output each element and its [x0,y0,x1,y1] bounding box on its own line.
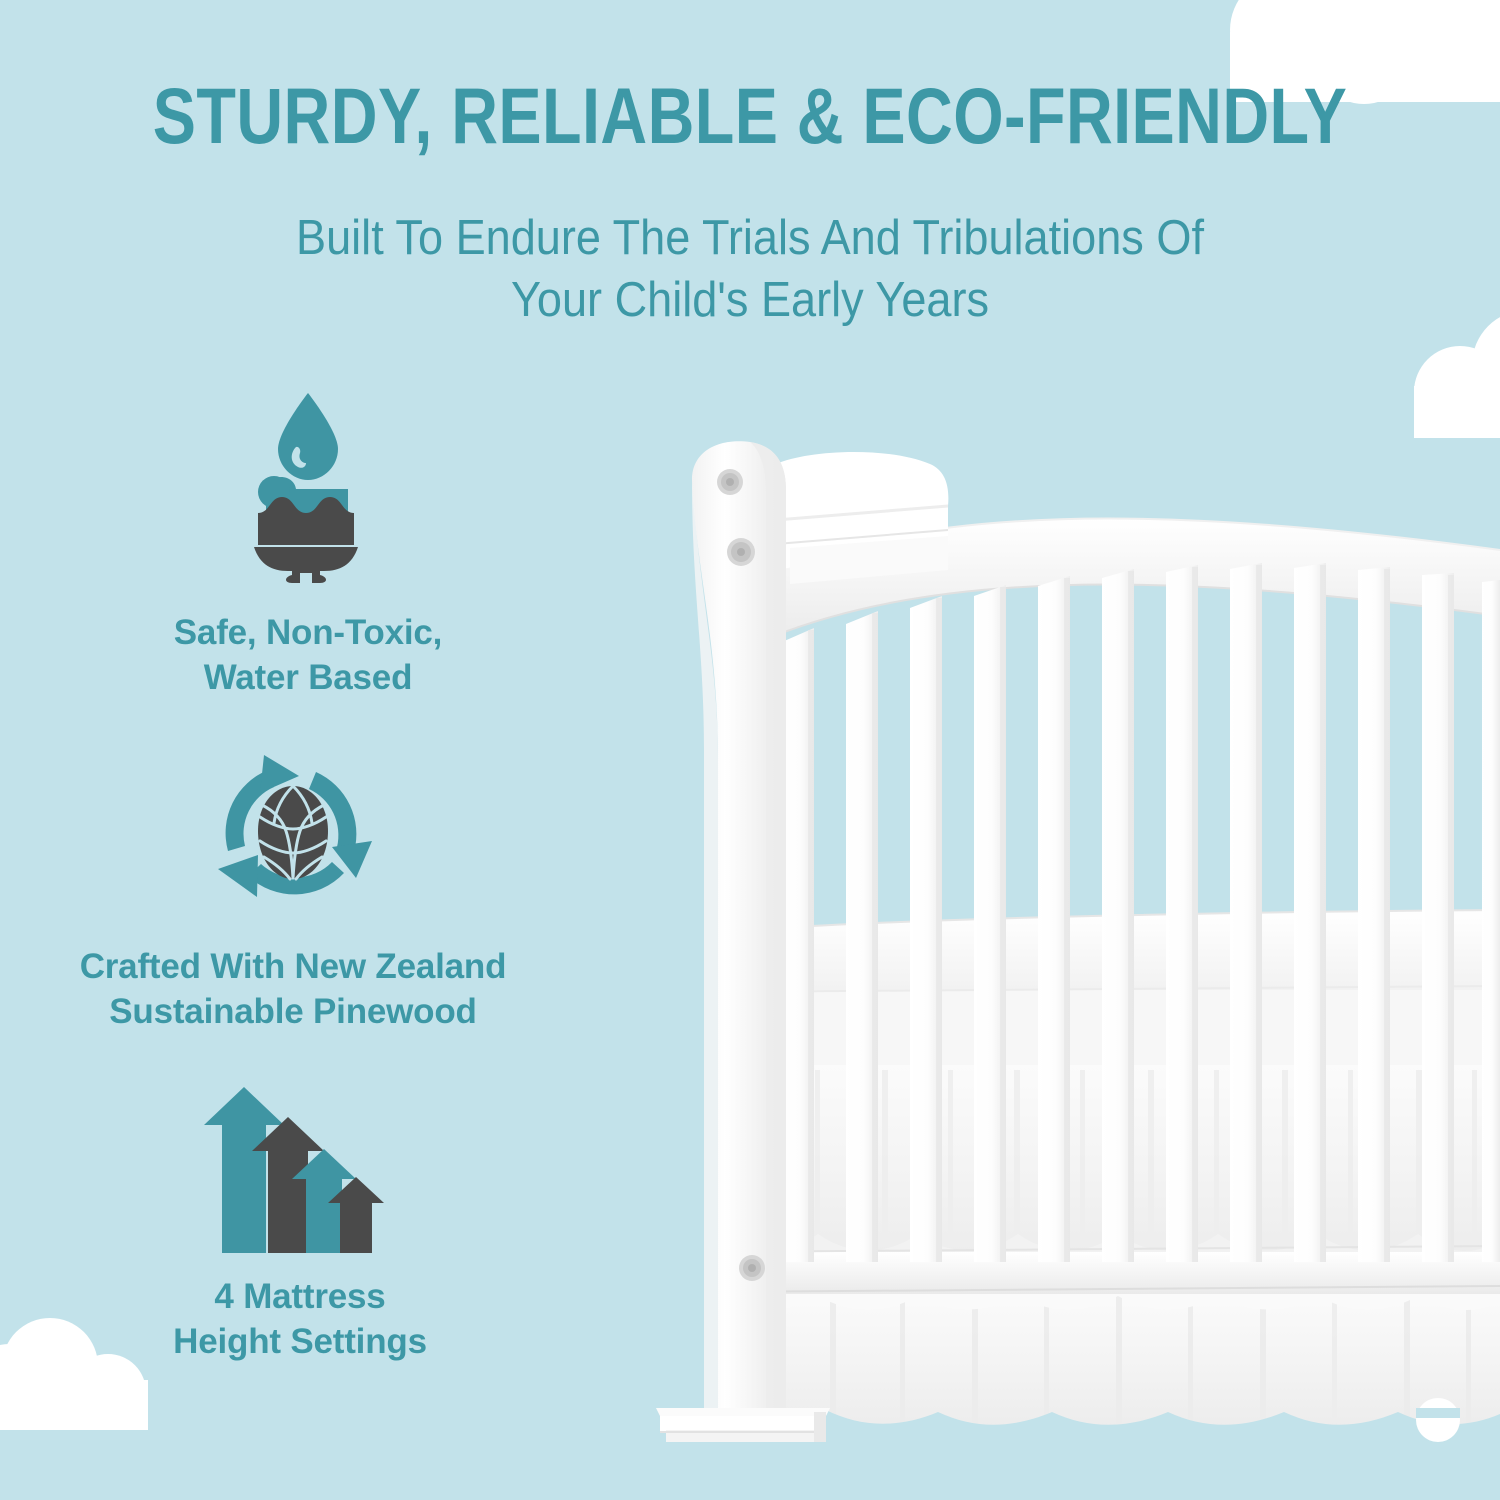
crib-product-image [600,420,1500,1445]
page-subtitle: Built To Endure The Trials And Tribulati… [60,208,1440,331]
ascending-arrows-icon [200,1085,400,1253]
page-title: STURDY, RELIABLE & ECO-FRIENDLY [135,76,1365,157]
feature-caption-line-2: Sustainable Pinewood [0,990,598,1035]
page-subtitle-line-2: Your Child's Early Years [60,270,1440,332]
infographic-canvas: STURDY, RELIABLE & ECO-FRIENDLY Built To… [0,0,1500,1500]
recycle-pinecone-icon [204,745,382,920]
feature-caption-line-1: 4 Mattress [10,1275,590,1320]
feature-mattress-heights: 4 Mattress Height Settings [10,1085,590,1365]
paintbrush-droplet-icon [228,385,388,583]
feature-caption: Crafted With New Zealand Sustainable Pin… [0,945,598,1035]
feature-caption-line-2: Height Settings [10,1320,590,1365]
feature-caption-line-1: Crafted With New Zealand [0,945,598,990]
page-subtitle-line-1: Built To Endure The Trials And Tribulati… [60,208,1440,270]
feature-caption: Safe, Non-Toxic, Water Based [18,611,598,701]
feature-sustainable-pinewood: Crafted With New Zealand Sustainable Pin… [0,745,598,1035]
feature-caption-line-2: Water Based [18,656,598,701]
feature-caption-line-1: Safe, Non-Toxic, [18,611,598,656]
feature-caption: 4 Mattress Height Settings [10,1275,590,1365]
feature-safe-non-toxic: Safe, Non-Toxic, Water Based [18,385,598,701]
